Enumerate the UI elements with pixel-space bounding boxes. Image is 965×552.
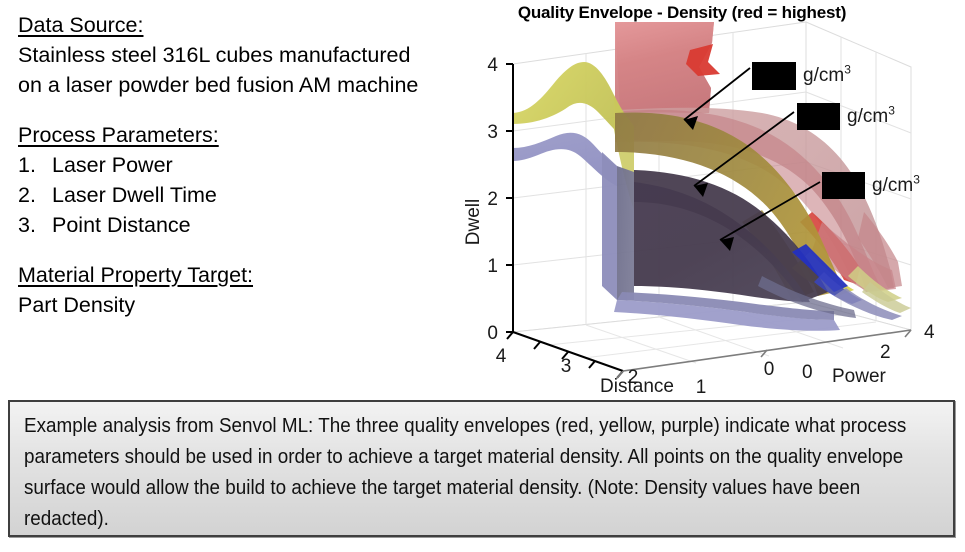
dwell-tick-2: 2 [487, 189, 498, 210]
list-item: 1. Laser Power [18, 150, 468, 180]
data-source-heading: Data Source: [18, 10, 468, 40]
data-source-line-1: Stainless steel 316L cubes manufactured [18, 40, 468, 70]
info-panel: Data Source: Stainless steel 316L cubes … [18, 10, 468, 320]
distance-tick-4: 4 [496, 346, 507, 367]
caption-box: Example analysis from Senvol ML: The thr… [8, 400, 955, 537]
dwell-tick-3: 3 [487, 122, 498, 143]
quality-envelope-chart: Quality Envelope - Density (red = highes… [462, 0, 965, 394]
power-axis-title: Power [832, 366, 887, 387]
list-item: 3. Point Distance [18, 210, 468, 240]
distance-axis-title: Distance [600, 376, 674, 394]
process-parameters-heading: Process Parameters: [18, 120, 468, 150]
list-item-number: 3. [18, 210, 52, 240]
caption-text: Example analysis from Senvol ML: The thr… [24, 410, 933, 534]
material-property-target-value: Part Density [18, 290, 468, 320]
dwell-tick-labels: 4 3 2 1 0 [487, 55, 498, 344]
list-item-label: Point Distance [52, 210, 191, 240]
distance-tick-0: 0 [764, 359, 775, 380]
power-tick-2: 2 [880, 342, 891, 363]
list-item: 2. Laser Dwell Time [18, 180, 468, 210]
process-parameters-list: 1. Laser Power 2. Laser Dwell Time 3. Po… [18, 150, 468, 240]
panel-spacer-1 [18, 100, 468, 120]
density-unit-3: g/cm3 [872, 175, 920, 197]
dwell-tick-1: 1 [487, 256, 498, 277]
data-source-line-2: on a laser powder bed fusion AM machine [18, 70, 468, 100]
panel-spacer-2 [18, 240, 468, 260]
distance-tick-3: 3 [561, 356, 572, 377]
list-item-number: 2. [18, 180, 52, 210]
density-callout-2: g/cm3 [797, 103, 895, 130]
power-tick-4: 4 [924, 322, 935, 343]
density-unit-1: g/cm3 [803, 65, 851, 87]
redacted-value-box-2 [797, 103, 840, 130]
power-tick-0: 0 [802, 362, 813, 383]
list-item-number: 1. [18, 150, 52, 180]
distance-tick-1: 1 [696, 377, 707, 394]
density-callout-3: g/cm3 [822, 172, 920, 199]
list-item-label: Laser Dwell Time [52, 180, 217, 210]
redacted-value-box-1 [752, 62, 796, 90]
density-callout-1: g/cm3 [752, 62, 851, 90]
redacted-value-box-3 [822, 172, 865, 199]
list-item-label: Laser Power [52, 150, 173, 180]
material-property-target-heading: Material Property Target: [18, 260, 468, 290]
dwell-tick-0: 0 [487, 323, 498, 344]
dwell-axis-title: Dwell [463, 199, 484, 245]
density-unit-2: g/cm3 [847, 106, 895, 128]
dwell-tick-4: 4 [487, 55, 498, 76]
